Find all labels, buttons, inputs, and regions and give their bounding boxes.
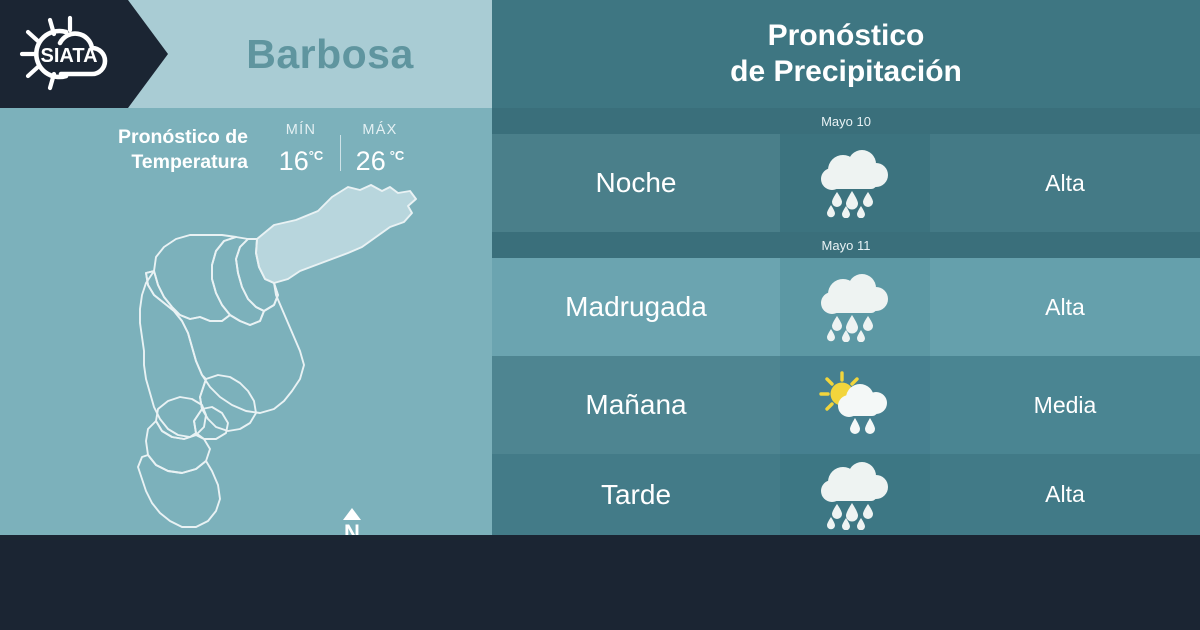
forecast-period-manana: Mañana bbox=[492, 356, 780, 454]
temperature-max-label: MÁX bbox=[362, 122, 397, 139]
date-band-mayo-10: Mayo 10 bbox=[492, 108, 1200, 134]
precipitation-title-line2: de Precipitación bbox=[730, 54, 962, 90]
precipitation-title: Pronóstico de Precipitación bbox=[492, 0, 1200, 108]
sun-cloud-icon: SIATA bbox=[14, 12, 132, 96]
north-arrow-icon bbox=[343, 508, 361, 520]
city-title: Barbosa bbox=[168, 0, 492, 108]
precipitation-title-line1: Pronóstico bbox=[768, 18, 925, 54]
max-unit: °C bbox=[390, 148, 405, 163]
temperature-min: MÍN 16°C bbox=[262, 122, 340, 177]
forecast-period-noche: Noche bbox=[492, 134, 780, 232]
aburra-valley-map: N bbox=[60, 175, 490, 535]
rain-cloud-icon bbox=[813, 272, 897, 342]
forecast-level-manana: Media bbox=[930, 356, 1200, 454]
rain-cloud-icon bbox=[813, 460, 897, 530]
map-region-west-edge bbox=[140, 271, 206, 437]
rain-cloud-icon bbox=[813, 148, 897, 218]
forecast-row-madrugada: Madrugada bbox=[492, 258, 1200, 356]
date-band-mayo-11: Mayo 11 bbox=[492, 232, 1200, 258]
siata-logo: SIATA bbox=[14, 12, 132, 96]
weather-forecast-card: SIATA Barbosa Pronóstico de Temperatura … bbox=[0, 0, 1200, 630]
left-panel: SIATA Barbosa Pronóstico de Temperatura … bbox=[0, 0, 492, 535]
temperature-title-line2: Temperatura bbox=[131, 151, 248, 173]
siata-logo-text: SIATA bbox=[40, 45, 97, 67]
map-region-bello bbox=[154, 235, 236, 321]
forecast-level-tarde: Alta bbox=[930, 454, 1200, 535]
right-panel: Pronóstico de Precipitación Mayo 10 Noch… bbox=[492, 0, 1200, 535]
temperature-max: MÁX 26°C bbox=[341, 122, 419, 177]
map-svg bbox=[60, 175, 490, 535]
forecast-row-tarde: Tarde bbox=[492, 454, 1200, 535]
max-number: 26 bbox=[356, 146, 386, 176]
map-region-medellin bbox=[146, 271, 304, 413]
raindrops bbox=[850, 418, 875, 434]
forecast-row-noche: Noche bbox=[492, 134, 1200, 232]
temperature-values: MÍN 16°C MÁX 26°C bbox=[262, 122, 419, 177]
temperature-title-line1: Pronóstico de bbox=[118, 126, 248, 148]
temperature-max-value: 26°C bbox=[356, 140, 405, 177]
forecast-icon-manana bbox=[780, 356, 930, 454]
sun-cloud-rain-icon bbox=[812, 370, 898, 440]
temperature-min-value: 16°C bbox=[279, 140, 324, 177]
forecast-icon-tarde bbox=[780, 454, 930, 535]
map-region-caldas bbox=[138, 455, 220, 527]
footer: @siatamedellin www.siata.gov.co Con el a… bbox=[0, 535, 1200, 630]
forecast-period-madrugada: Madrugada bbox=[492, 258, 780, 356]
temperature-min-label: MÍN bbox=[286, 122, 316, 139]
min-number: 16 bbox=[279, 146, 309, 176]
temperature-title: Pronóstico de Temperatura bbox=[72, 122, 248, 175]
forecast-period-tarde: Tarde bbox=[492, 454, 780, 535]
forecast-level-madrugada: Alta bbox=[930, 258, 1200, 356]
forecast-icon-noche bbox=[780, 134, 930, 232]
min-unit: °C bbox=[309, 148, 324, 163]
forecast-row-manana: Mañana bbox=[492, 356, 1200, 454]
forecast-level-noche: Alta bbox=[930, 134, 1200, 232]
forecast-icon-madrugada bbox=[780, 258, 930, 356]
map-region-barbosa bbox=[256, 185, 416, 283]
